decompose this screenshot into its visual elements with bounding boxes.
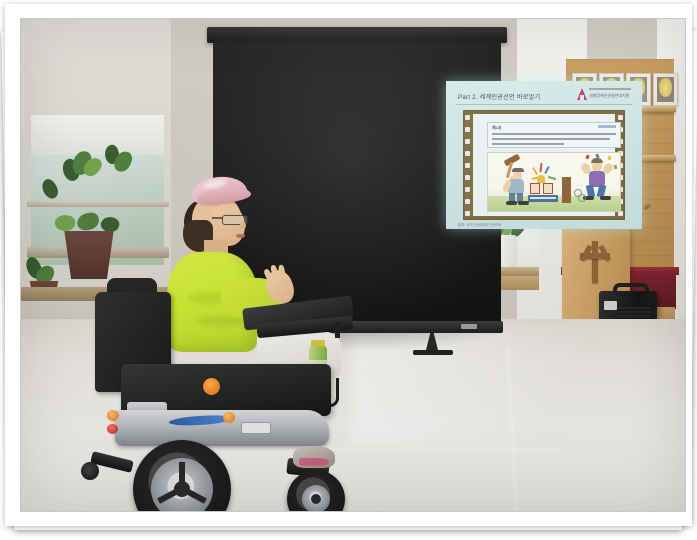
film-perforation	[465, 211, 470, 216]
photo-frame: Part 2. 세계인권선언 바로알기 세계장애인권총연대지원	[0, 0, 697, 540]
screen-stand-foot	[413, 350, 453, 355]
hand-print-artwork	[659, 78, 672, 97]
wheel-hub	[174, 481, 190, 497]
wheelchair-rear-light	[107, 424, 118, 434]
article-heading: 제1조	[492, 125, 502, 131]
mouth	[236, 234, 245, 238]
post	[562, 177, 571, 203]
wall-art-frame	[653, 73, 678, 106]
finger	[278, 265, 286, 279]
wheelchair-indicator-light	[107, 410, 119, 421]
cartoon-illustration	[487, 152, 621, 212]
film-perforation	[465, 163, 470, 168]
confetti	[614, 165, 618, 169]
right-figure-shoe	[600, 196, 611, 200]
film-perforation	[465, 199, 470, 204]
article-body-line	[492, 133, 616, 135]
organization-logo: 세계장애인권총연대지원	[577, 87, 633, 101]
slide-title: Part 2. 세계인권선언 바로알기	[458, 92, 540, 101]
logo-org-name: 세계장애인권총연대지원	[589, 93, 629, 99]
left-figure-shoe	[506, 201, 517, 205]
spark	[548, 176, 556, 180]
shackle-block	[530, 183, 540, 194]
textbox-logo	[598, 125, 616, 128]
spark	[532, 167, 538, 175]
shackle-block	[543, 183, 553, 194]
film-perforation	[618, 115, 623, 120]
presenter-and-wheelchair	[71, 174, 351, 504]
slide-textbox: 제1조	[487, 122, 621, 148]
logo-triangle-cutout	[580, 95, 584, 100]
film-perforation	[465, 127, 470, 132]
film-perforation	[465, 115, 470, 120]
nose	[240, 222, 246, 229]
fabric-fold	[195, 316, 245, 326]
slide-source-caption: 출처: 국가인권위원회 인권만화	[458, 222, 501, 227]
anti-tip-wheel	[81, 462, 99, 480]
cartoon-sign-text	[530, 197, 556, 199]
shoe-accent	[299, 458, 329, 466]
film-perforation	[465, 175, 470, 180]
wheelchair-model-badge	[241, 422, 271, 434]
photograph: Part 2. 세계인권선언 바로알기 세계장애인권총연대지원	[21, 19, 685, 511]
article-body-line	[492, 143, 564, 145]
film-perforation	[465, 187, 470, 192]
speaker-label	[604, 301, 617, 310]
caster-hub	[311, 494, 321, 504]
left-figure-cap	[512, 168, 524, 172]
filmstrip-frame: 제1조	[463, 110, 625, 220]
spark	[540, 163, 543, 172]
confetti	[585, 155, 589, 160]
spark	[544, 166, 550, 174]
film-inner-area: 제1조	[473, 114, 615, 216]
photo-paper-card: Part 2. 세계인권선언 바로알기 세계장애인권총연대지원	[5, 4, 692, 526]
projected-slide: Part 2. 세계인권선언 바로알기 세계장애인권총연대지원	[446, 81, 642, 229]
broken-chain-link	[578, 194, 586, 202]
film-perforation	[465, 151, 470, 156]
wheelchair-indicator-light	[223, 412, 235, 423]
right-figure-hair	[591, 158, 603, 163]
slide-title-rule	[456, 104, 632, 105]
logo-tagline-bar	[589, 88, 631, 90]
broken-lock	[537, 175, 545, 183]
wheelchair-reflector	[203, 378, 220, 395]
cross-icon	[592, 241, 598, 283]
film-perforation	[465, 139, 470, 144]
window-bright-sky	[31, 115, 164, 155]
wheelchair-joystick[interactable]	[335, 322, 340, 338]
screen-base-badge	[461, 324, 477, 329]
confetti	[608, 156, 612, 161]
article-body-line	[492, 138, 610, 140]
